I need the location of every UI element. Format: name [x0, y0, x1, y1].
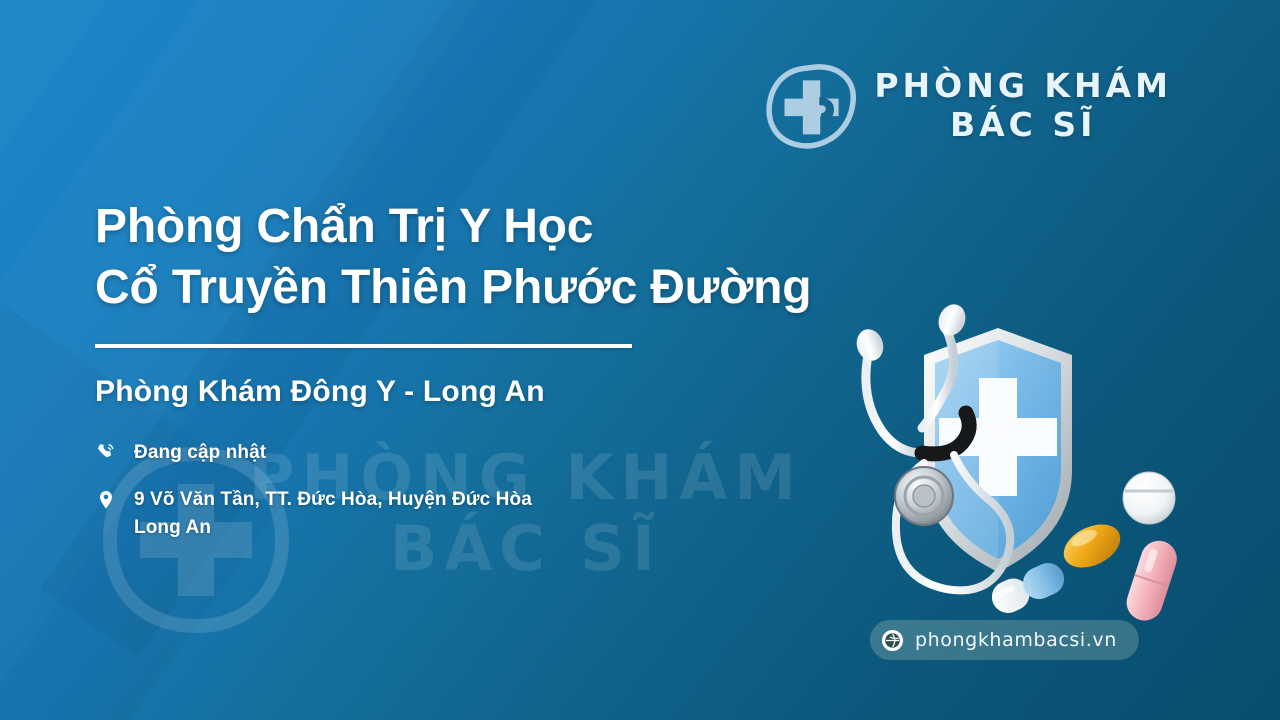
website-badge[interactable]: phongkhambacsi.vn [870, 620, 1139, 660]
logo-wordmark: PHÒNG KHÁM BÁC SĨ [874, 67, 1172, 145]
page-subtitle: Phòng Khám Đông Y - Long An [95, 375, 915, 409]
medical-cross-circle-icon [766, 62, 858, 150]
medical-illustration [838, 300, 1208, 630]
contact-row-address[interactable]: 9 Võ Văn Tần, TT. Đức Hòa, Huyện Đức Hòa… [95, 486, 915, 541]
page-title: Phòng Chẩn Trị Y Học Cổ Truyền Thiên Phư… [95, 196, 915, 319]
contact-list: Đang cập nhật 9 Võ Văn Tần, TT. Đức Hòa,… [95, 439, 915, 542]
round-tablet-pill [1123, 472, 1175, 524]
phone-icon [95, 439, 117, 464]
globe-icon [881, 629, 904, 652]
logo-line-2: BÁC SĨ [874, 106, 1172, 145]
website-url: phongkhambacsi.vn [915, 629, 1117, 651]
contact-phone-label: Đang cập nhật [134, 439, 266, 467]
brand-logo: PHÒNG KHÁM BÁC SĨ [766, 62, 1172, 150]
pink-capsule-pill [1122, 536, 1182, 625]
gold-softgel-pill [1057, 516, 1128, 576]
location-pin-icon [95, 486, 117, 511]
title-divider [95, 344, 632, 348]
contact-row-phone[interactable]: Đang cập nhật [95, 439, 915, 467]
banner-copy: Phòng Chẩn Trị Y Học Cổ Truyền Thiên Phư… [95, 196, 915, 562]
logo-line-1: PHÒNG KHÁM [874, 67, 1172, 106]
clinic-banner: PHÒNG KHÁM BÁC SĨ PHÒNG KHÁM BÁC SĨ Phòn… [0, 0, 1280, 720]
contact-address-label: 9 Võ Văn Tần, TT. Đức Hòa, Huyện Đức Hòa… [134, 486, 532, 541]
